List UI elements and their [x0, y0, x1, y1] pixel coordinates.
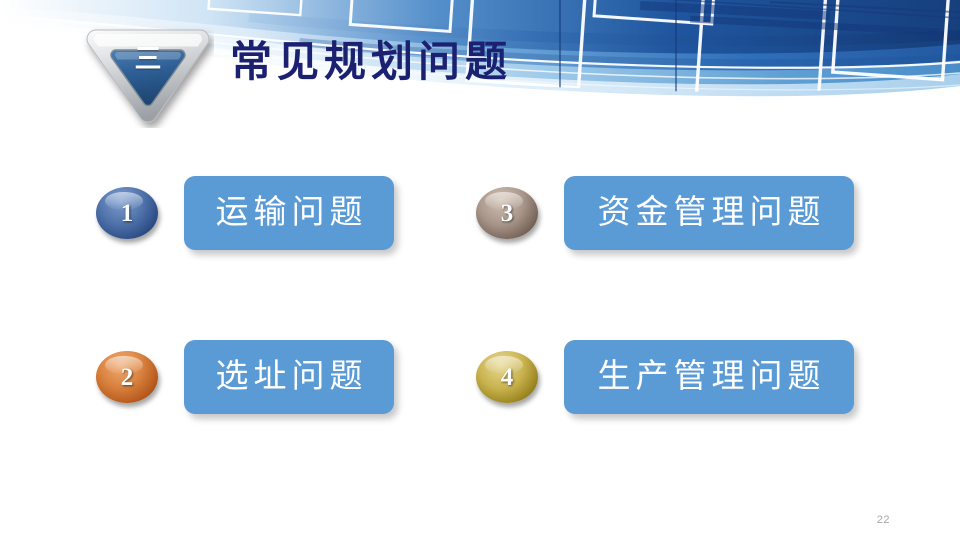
item-label-pill[interactable]: 生产管理问题: [564, 340, 854, 414]
list-item[interactable]: 4 生产管理问题: [476, 340, 854, 414]
item-label-pill[interactable]: 选址问题: [184, 340, 394, 414]
item-label: 运输问题: [211, 197, 368, 230]
section-marker-badge: 三: [82, 24, 214, 128]
item-label-pill[interactable]: 资金管理问题: [564, 176, 854, 250]
item-label-pill[interactable]: 运输问题: [184, 176, 394, 250]
presentation-slide: 三 常见规划问题 1 运输问题 2 选址问题 3 资金管理问题: [0, 0, 960, 540]
item-number: 2: [121, 365, 134, 390]
item-label: 生产管理问题: [593, 361, 826, 394]
item-number: 1: [121, 201, 134, 226]
item-number-badge: 1: [96, 187, 158, 239]
item-label: 资金管理问题: [593, 197, 826, 230]
item-label: 选址问题: [211, 361, 368, 394]
list-item[interactable]: 2 选址问题: [96, 340, 394, 414]
item-number-badge: 2: [96, 351, 158, 403]
item-number-badge: 4: [476, 351, 538, 403]
item-number: 4: [501, 365, 514, 390]
item-number: 3: [501, 201, 514, 226]
item-number-badge: 3: [476, 187, 538, 239]
page-title: 常见规划问题: [230, 40, 512, 86]
list-item[interactable]: 3 资金管理问题: [476, 176, 854, 250]
section-marker-label: 三: [82, 46, 214, 73]
page-number: 22: [877, 514, 890, 526]
list-item[interactable]: 1 运输问题: [96, 176, 394, 250]
